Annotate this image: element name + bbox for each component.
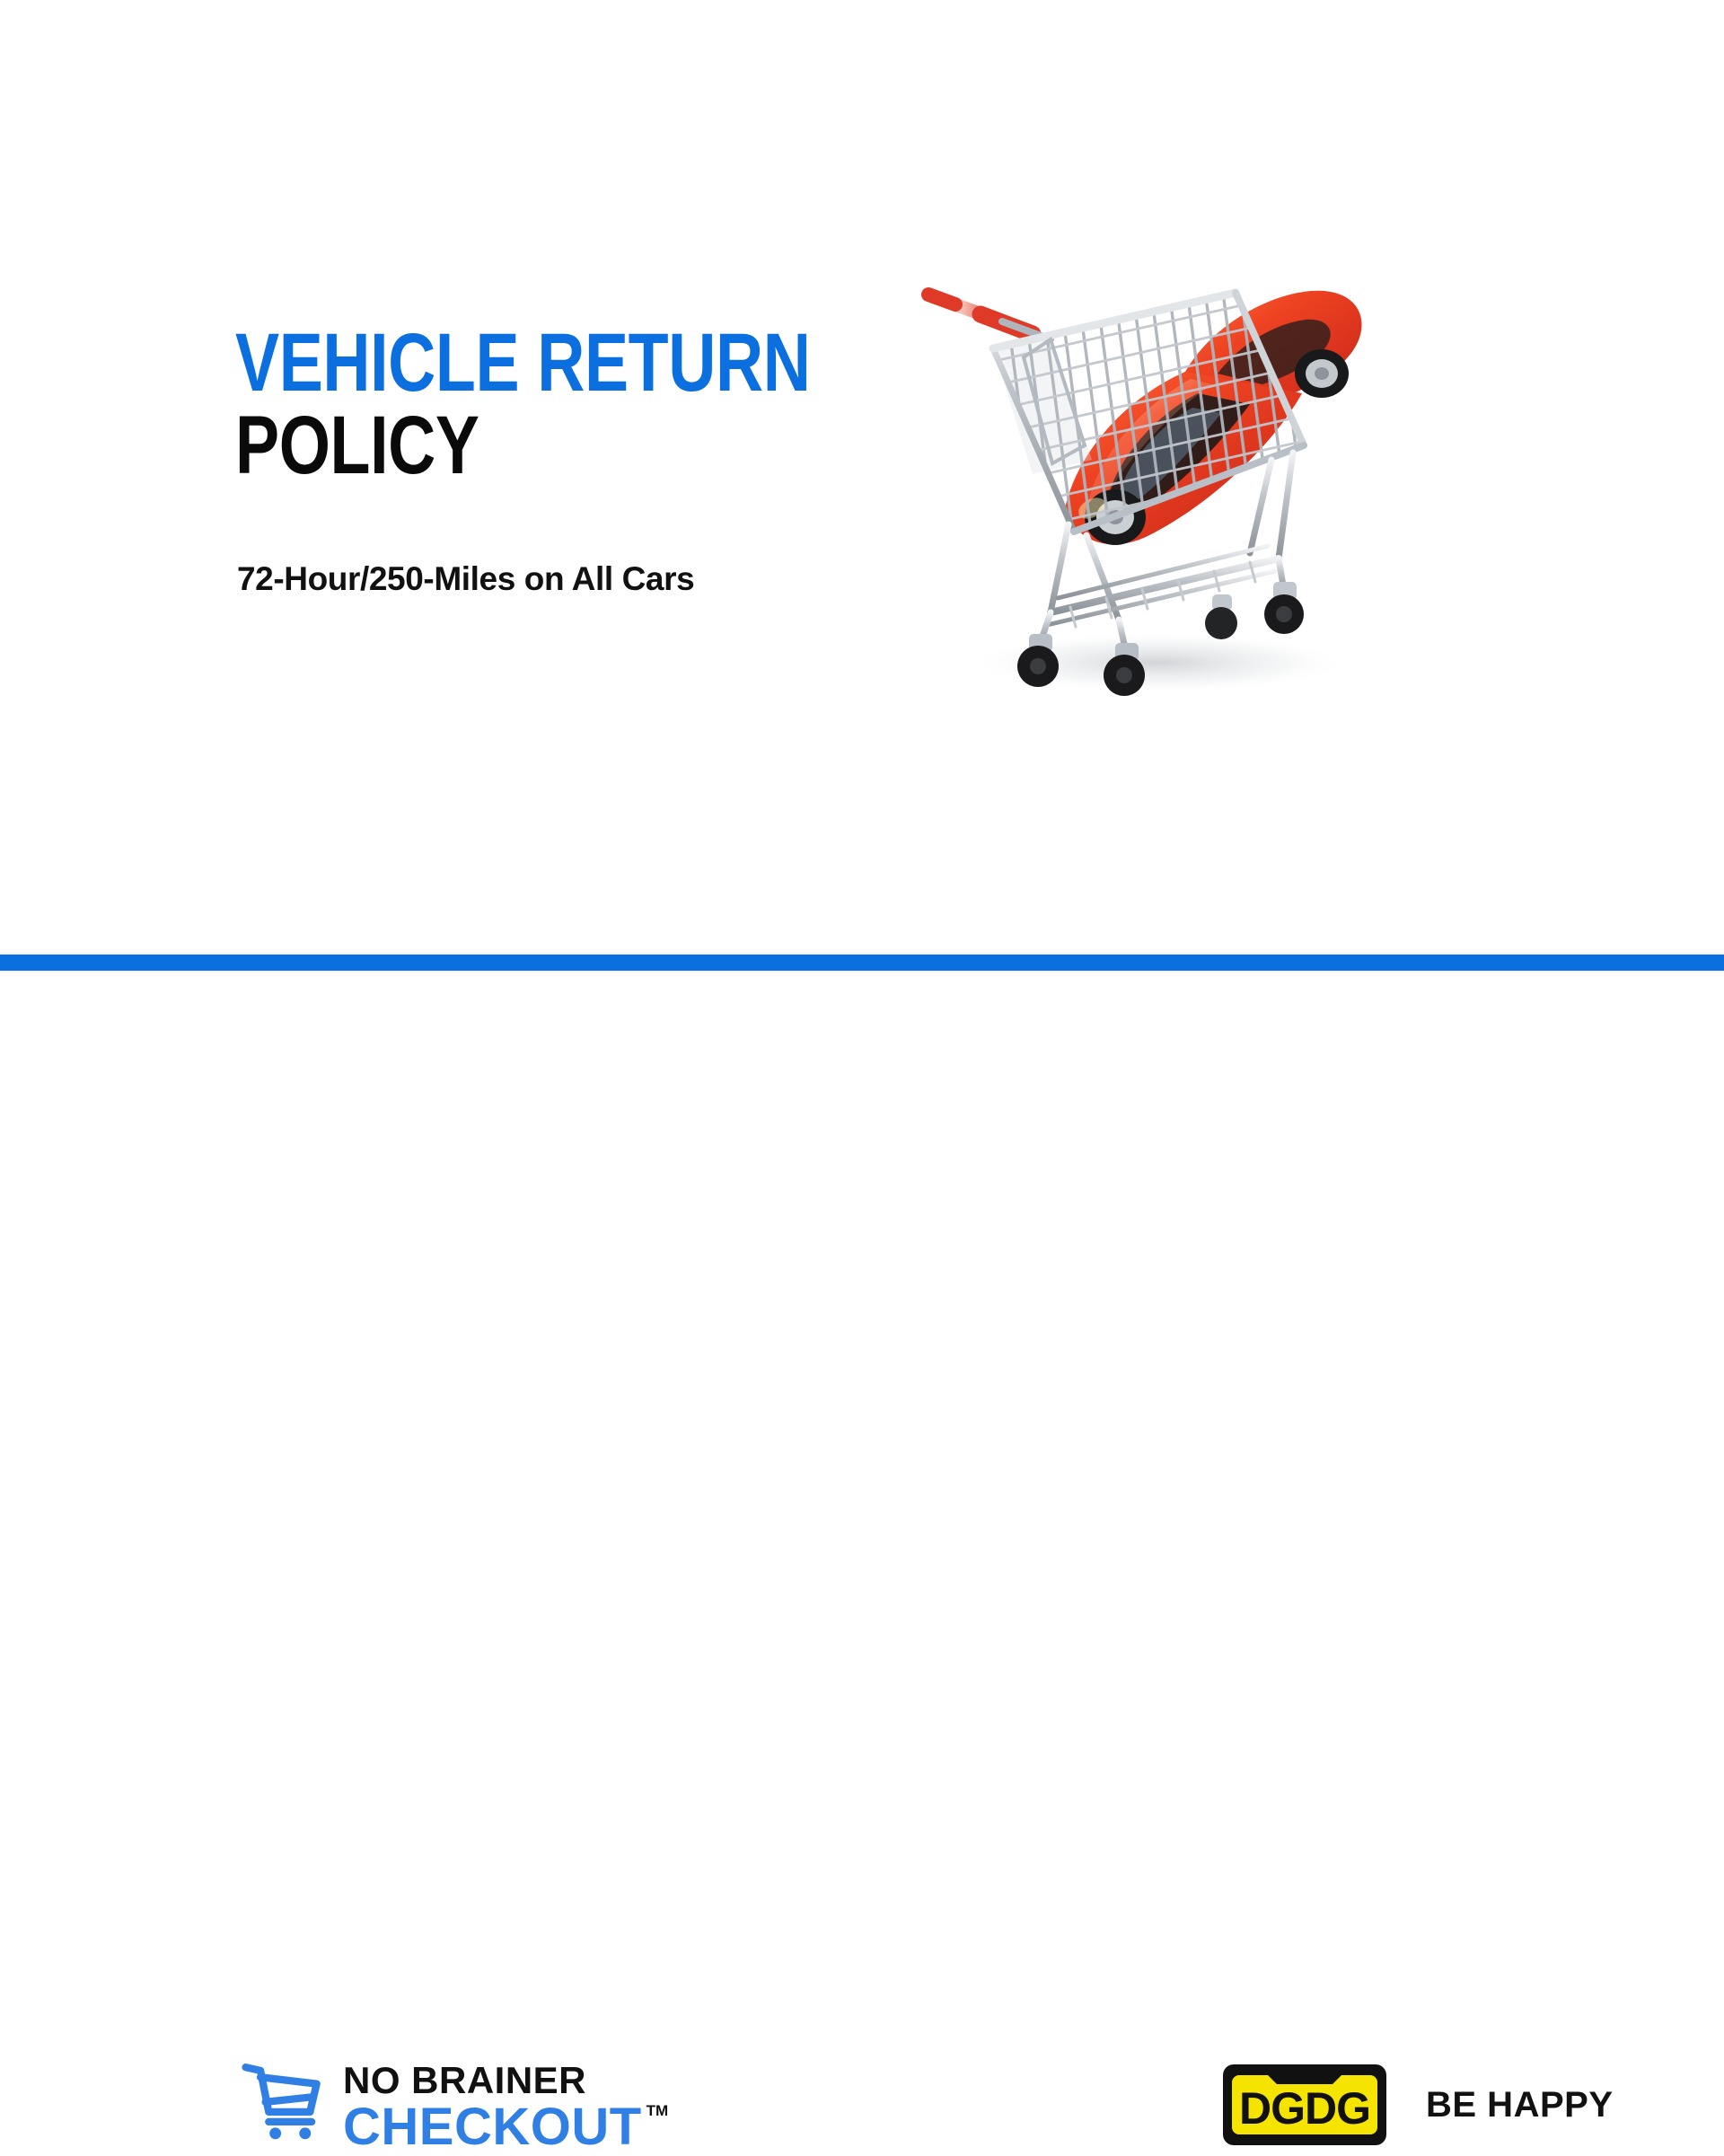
dgdg-tagline: BE HAPPY xyxy=(1426,2085,1614,2125)
cart-handle xyxy=(928,295,1051,339)
svg-text:DGDG: DGDG xyxy=(1239,2083,1370,2134)
nbc-line-no-brainer: NO BRAINER xyxy=(343,2062,668,2099)
headline-line-1: VEHICLE RETURN xyxy=(235,325,738,402)
dgdg-logo: DGDG BE HAPPY xyxy=(1221,2063,1614,2147)
headline-block: VEHICLE RETURN POLICY xyxy=(235,325,864,484)
car-rear-wheel xyxy=(1295,349,1349,398)
shopping-cart-icon xyxy=(241,2059,323,2142)
no-brainer-checkout-wordmark: NO BRAINER CHECKOUT TM xyxy=(343,2059,668,2153)
subtitle-text: 72-Hour/250-Miles on All Cars xyxy=(237,560,694,598)
red-car xyxy=(1065,291,1361,545)
no-brainer-checkout-logo: NO BRAINER CHECKOUT TM xyxy=(241,2059,668,2153)
headline-line-2: POLICY xyxy=(235,408,738,485)
dgdg-plate-icon: DGDG xyxy=(1221,2063,1388,2147)
trademark-symbol: TM xyxy=(646,2103,669,2118)
shopping-cart-with-red-car-image xyxy=(916,239,1437,742)
nbc-line-checkout: CHECKOUT xyxy=(343,2101,642,2153)
hero-section: VEHICLE RETURN POLICY 72-Hour/250-Miles … xyxy=(0,0,1724,955)
footer-section: NO BRAINER CHECKOUT TM DGDG BE HAPPY xyxy=(0,971,1724,1293)
blue-divider-bar xyxy=(0,955,1724,971)
